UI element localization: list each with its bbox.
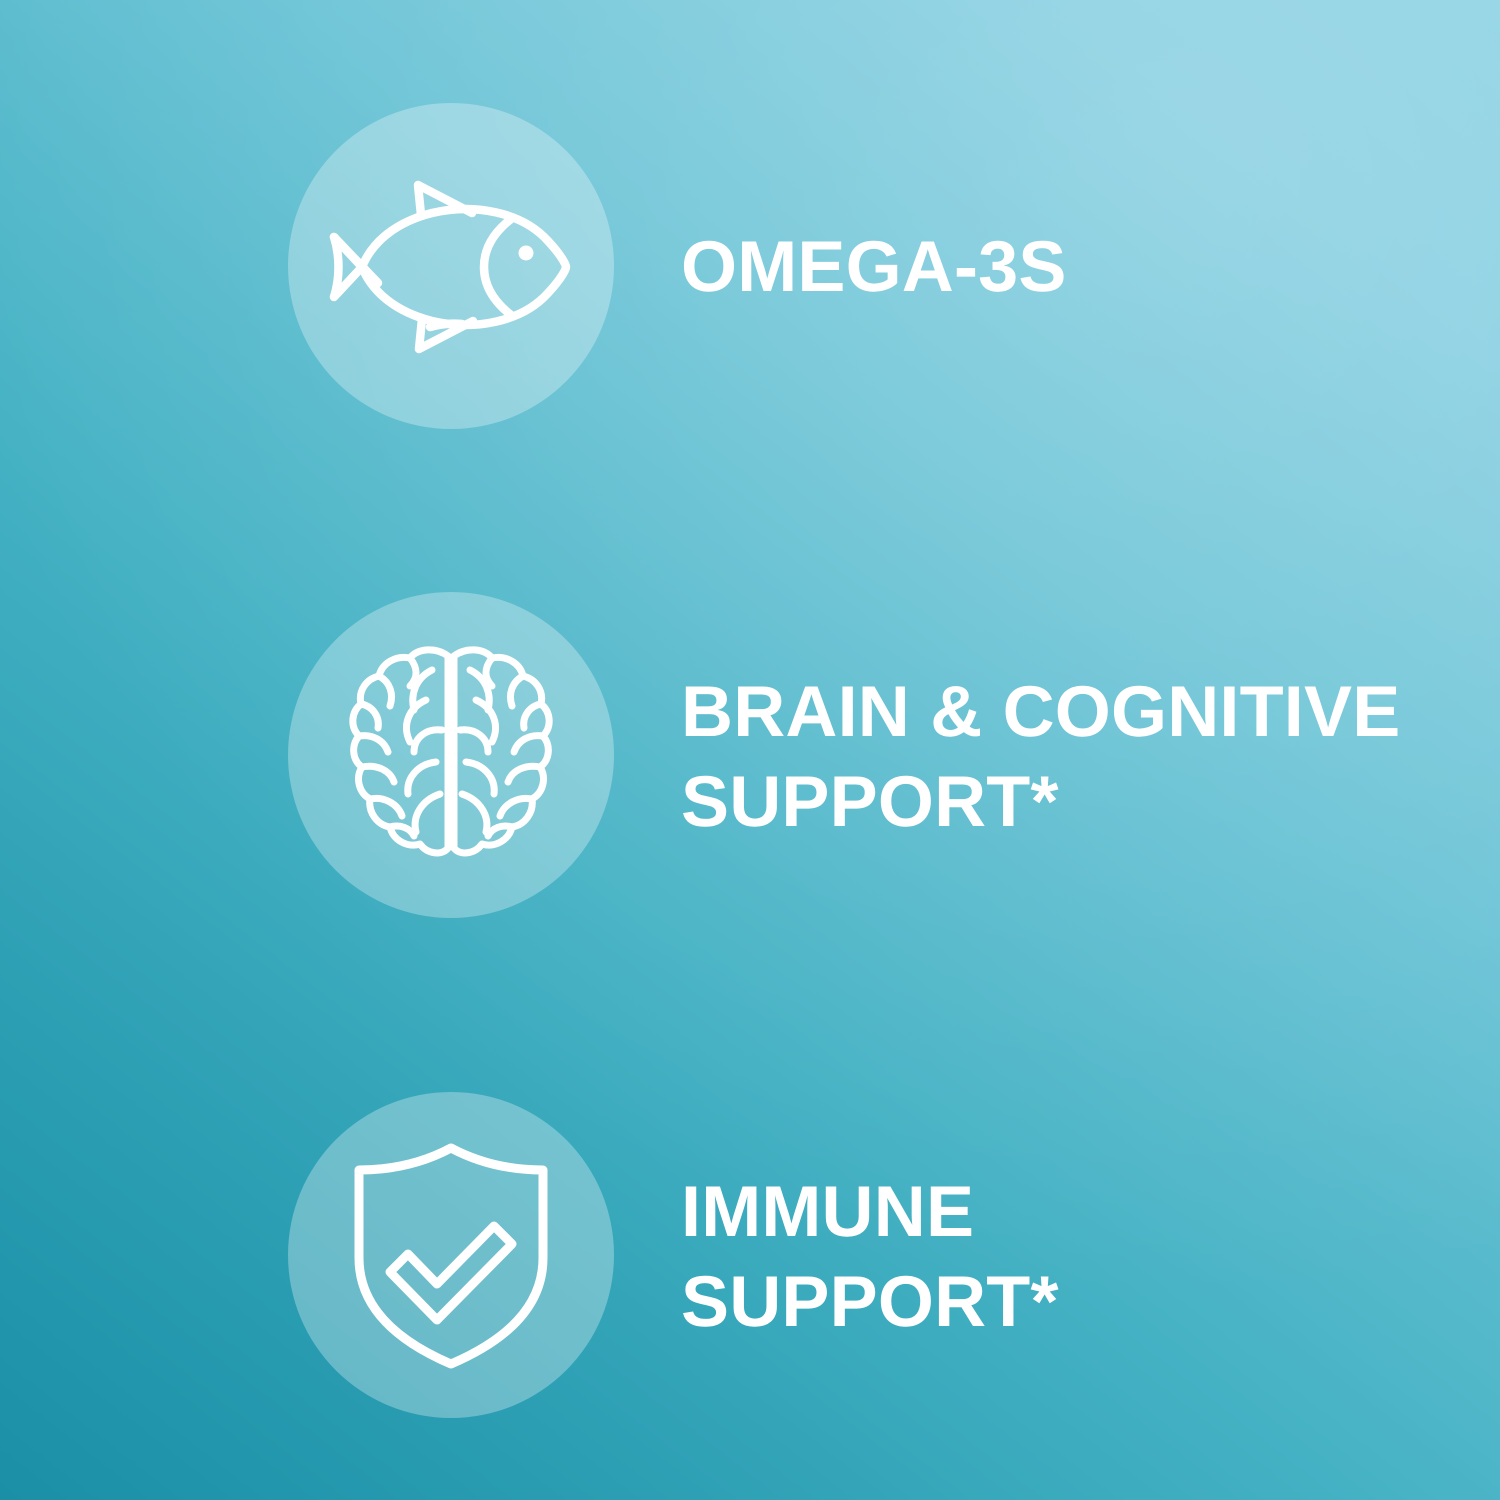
benefit-label-immune: IMMUNE SUPPORT* — [681, 1167, 1059, 1347]
icon-circle-brain — [288, 592, 614, 918]
brain-icon — [348, 644, 554, 866]
benefit-label-omega3: OMEGA-3S — [681, 222, 1067, 312]
product-benefits-panel: OMEGA-3S — [0, 0, 1500, 1500]
shield-check-icon — [351, 1140, 551, 1370]
benefit-label-brain: BRAIN & COGNITIVE SUPPORT* — [681, 667, 1400, 847]
icon-circle-immune — [288, 1092, 614, 1418]
icon-circle-omega3 — [288, 103, 614, 429]
fish-icon — [326, 179, 576, 354]
